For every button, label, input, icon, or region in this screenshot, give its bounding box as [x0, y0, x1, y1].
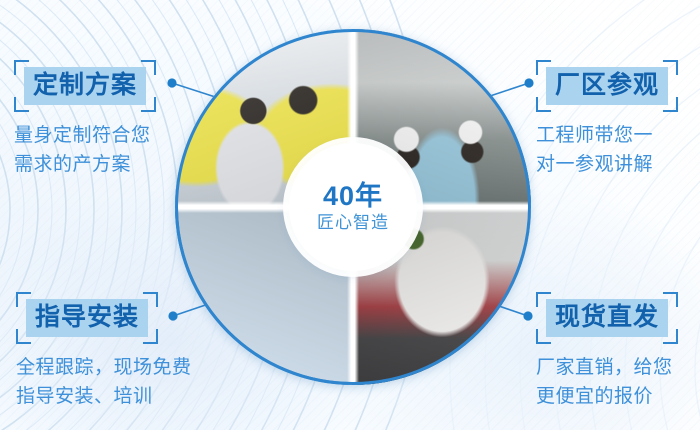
feature-desc-line-2: 更便宜的报价 [536, 382, 700, 411]
bracket-bottom-left-icon [536, 97, 551, 112]
feature-custom-plan[interactable]: 定制方案 量身定制符合您 需求的产方案 [14, 60, 202, 180]
bracket-bottom-right-icon [143, 329, 158, 344]
feature-tag-factory-visit: 厂区参观 [536, 60, 678, 112]
bracket-top-left-icon [536, 60, 551, 75]
bracket-top-right-icon [663, 292, 678, 307]
feature-tag-label: 厂区参观 [546, 67, 668, 105]
feature-install-guidance[interactable]: 指导安装 全程跟踪，现场免费 指导安装、培训 [16, 292, 204, 412]
bracket-top-left-icon [16, 292, 31, 307]
bracket-bottom-left-icon [14, 97, 29, 112]
feature-tag-label: 定制方案 [24, 67, 146, 105]
bracket-bottom-left-icon [536, 329, 551, 344]
feature-factory-visit[interactable]: 厂区参观 工程师带您一 对一参观讲解 [536, 60, 700, 180]
bracket-top-right-icon [663, 60, 678, 75]
feature-description-factory-visit: 工程师带您一 对一参观讲解 [536, 121, 700, 180]
feature-desc-line-1: 工程师带您一 [536, 121, 700, 150]
bracket-top-right-icon [143, 292, 158, 307]
center-badge: 40年 匠心智造 [289, 143, 417, 271]
feature-desc-line-1: 量身定制符合您 [14, 121, 202, 150]
center-years: 40年 [323, 183, 383, 210]
feature-desc-line-1: 厂家直销，给您 [536, 353, 700, 382]
bracket-bottom-left-icon [16, 329, 31, 344]
feature-tag-label: 现货直发 [546, 299, 668, 337]
bracket-top-left-icon [536, 292, 551, 307]
feature-stock-shipping[interactable]: 现货直发 厂家直销，给您 更便宜的报价 [536, 292, 700, 412]
feature-description-custom-plan: 量身定制符合您 需求的产方案 [14, 121, 202, 180]
center-slogan: 匠心智造 [317, 214, 389, 231]
feature-description-install-guidance: 全程跟踪，现场免费 指导安装、培训 [16, 353, 204, 412]
photo-collage-circle: 40年 匠心智造 [175, 29, 531, 385]
feature-desc-line-1: 全程跟踪，现场免费 [16, 353, 204, 382]
feature-desc-line-2: 对一参观讲解 [536, 150, 700, 179]
banner-canvas: 40年 匠心智造 定制方案 量身定制符合您 需求的产方案 厂区参观 工程师带您一… [0, 0, 700, 430]
feature-tag-stock-shipping: 现货直发 [536, 292, 678, 344]
feature-tag-label: 指导安装 [26, 299, 148, 337]
feature-tag-custom-plan: 定制方案 [14, 60, 156, 112]
bracket-bottom-right-icon [663, 329, 678, 344]
bracket-top-left-icon [14, 60, 29, 75]
feature-description-stock-shipping: 厂家直销，给您 更便宜的报价 [536, 353, 700, 412]
bracket-top-right-icon [141, 60, 156, 75]
bracket-bottom-right-icon [663, 97, 678, 112]
feature-desc-line-2: 指导安装、培训 [16, 382, 204, 411]
feature-tag-install-guidance: 指导安装 [16, 292, 158, 344]
feature-desc-line-2: 需求的产方案 [14, 150, 202, 179]
bracket-bottom-right-icon [141, 97, 156, 112]
